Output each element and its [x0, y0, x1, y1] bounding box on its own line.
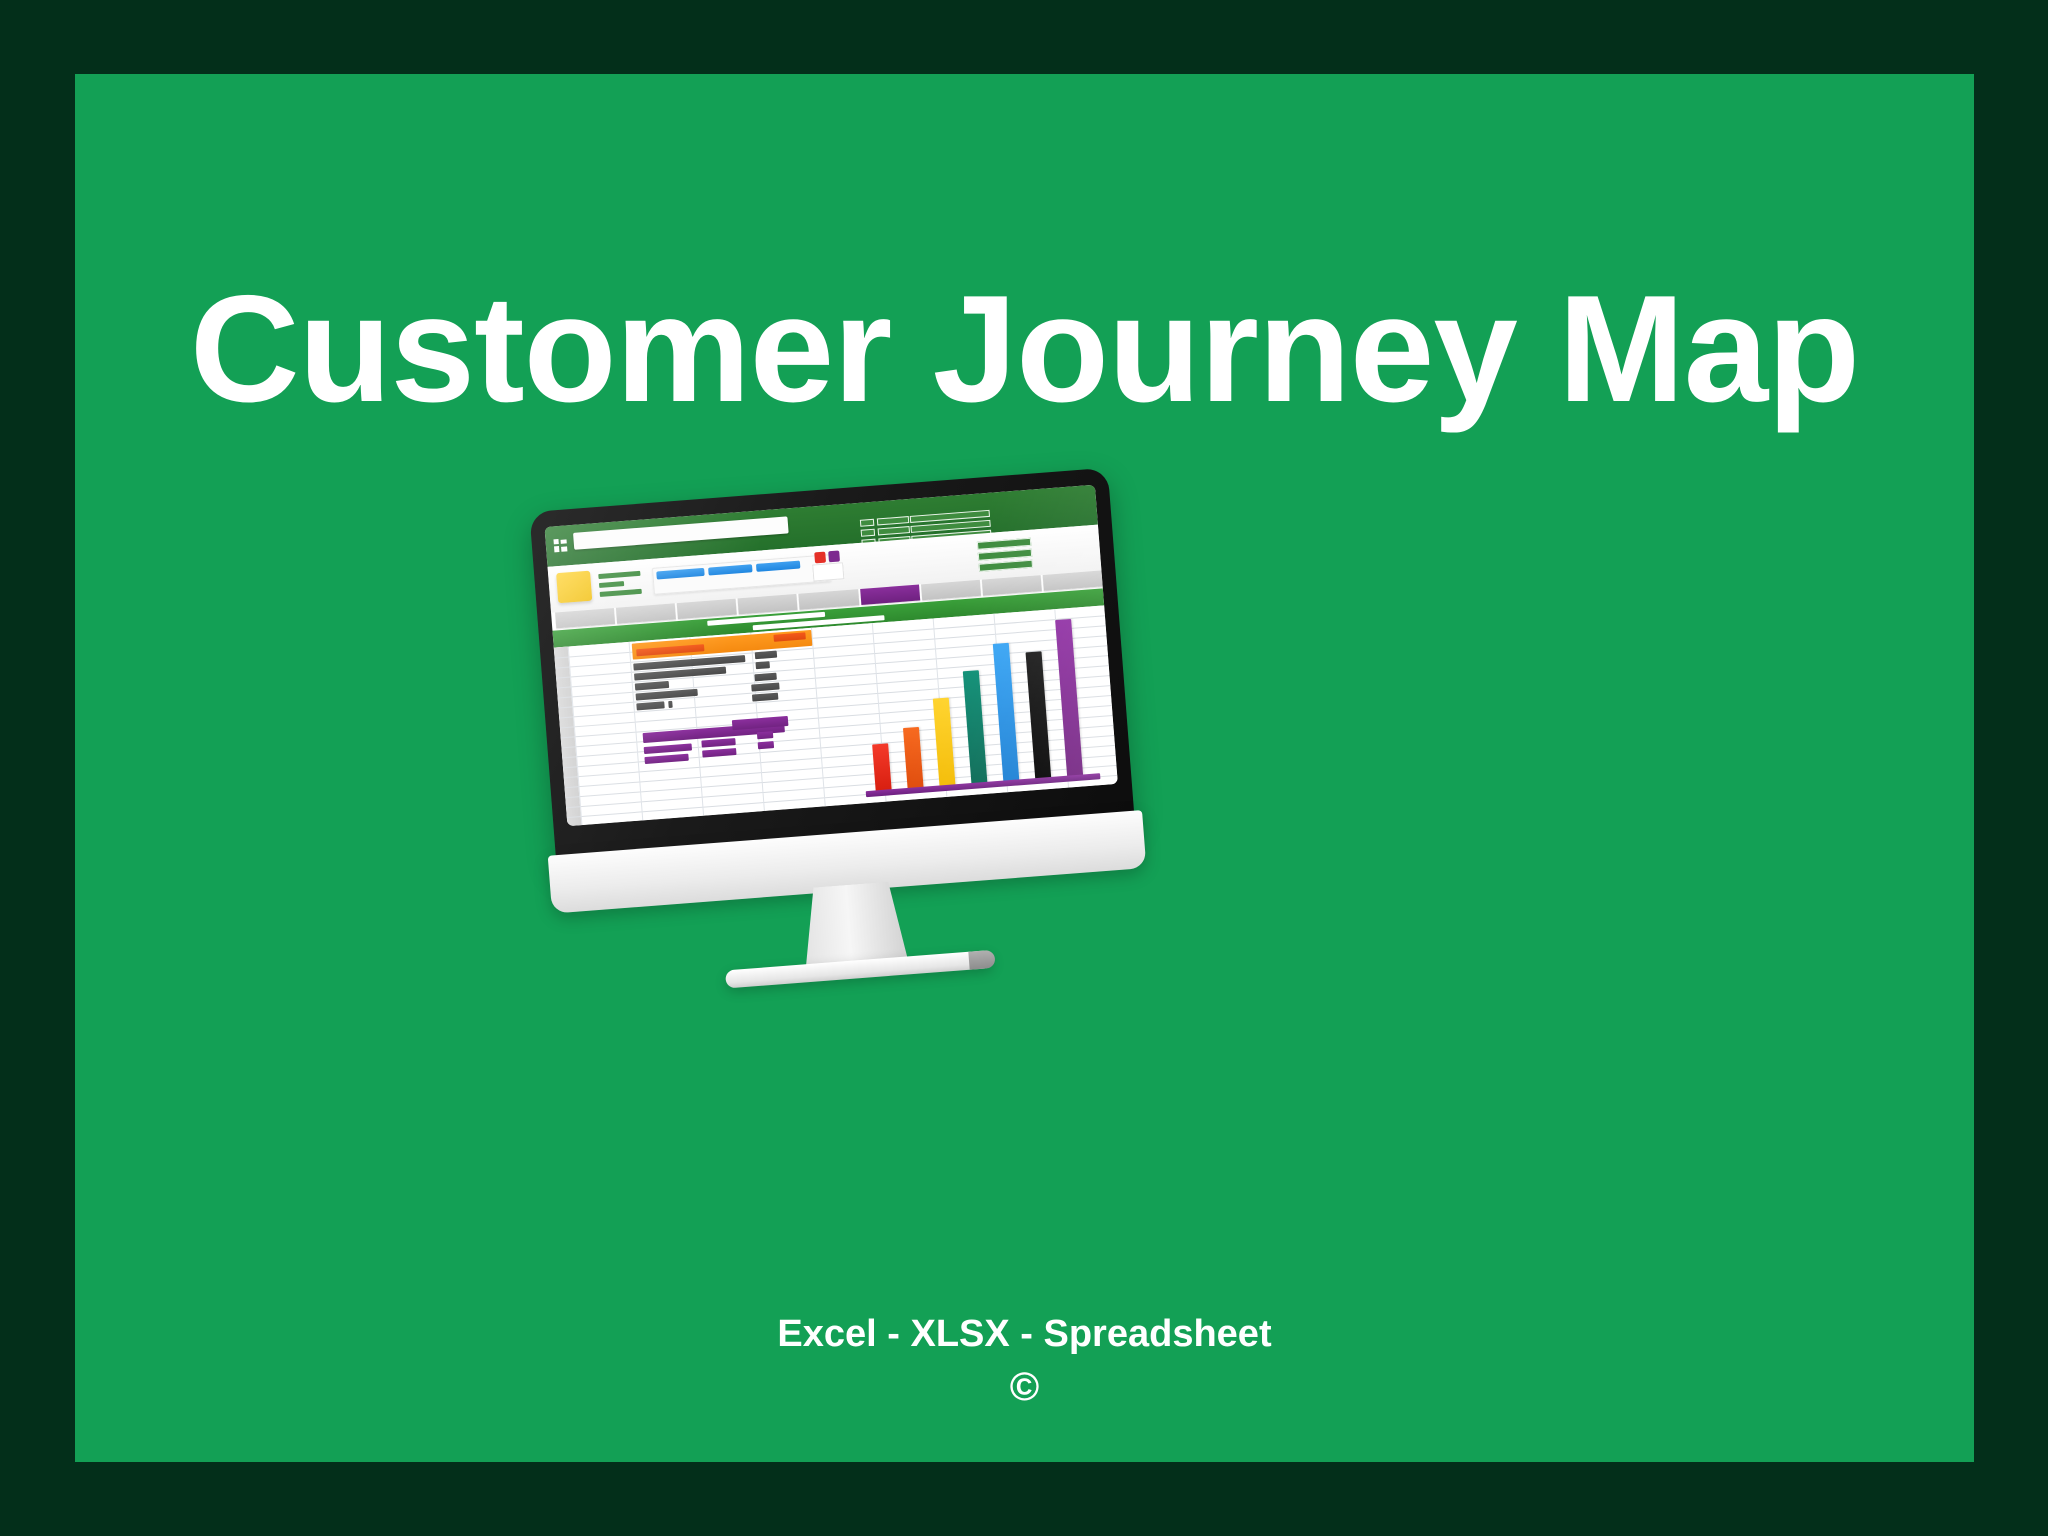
sheet-purple-data-bar	[757, 731, 773, 739]
ribbon-clipboard-group[interactable]	[598, 571, 642, 601]
sheet-purple-data-bar	[701, 738, 735, 748]
column-header-cell-selected[interactable]	[860, 584, 920, 604]
sheet-gray-data-bar	[668, 701, 673, 708]
sheet-purple-data-bar	[644, 743, 692, 754]
column-header-cell[interactable]	[1043, 570, 1103, 590]
ribbon-number-format-field[interactable]	[812, 562, 844, 581]
ribbon-editing-group[interactable]	[977, 538, 1033, 572]
copyright-icon: ©	[75, 1358, 1974, 1416]
monitor-illustration	[511, 466, 1168, 1022]
sheet-gray-data-bar	[755, 651, 777, 660]
ribbon-purple-swatch[interactable]	[828, 550, 840, 562]
column-header-cell[interactable]	[616, 603, 676, 623]
chart-bar	[872, 743, 892, 791]
sheet-purple-data-bar	[702, 748, 736, 758]
chart-bar	[993, 643, 1020, 782]
slide-root: Customer Journey Map	[0, 0, 2048, 1536]
column-header-cell[interactable]	[799, 589, 859, 609]
sheet-purple-data-bar	[644, 754, 688, 764]
ribbon-paste-button[interactable]	[556, 571, 592, 604]
column-header-cell[interactable]	[555, 608, 615, 628]
column-header-cell[interactable]	[677, 599, 737, 619]
column-header-cell[interactable]	[921, 580, 981, 600]
sheet-purple-data-bar	[758, 741, 774, 749]
chart-bar	[903, 727, 924, 789]
slide-panel: Customer Journey Map	[75, 74, 1974, 1462]
monitor-screen	[544, 485, 1117, 826]
footer-format-label: Excel - XLSX - Spreadsheet	[75, 1312, 1974, 1358]
ribbon-red-swatch[interactable]	[814, 552, 826, 564]
monitor-base-cap	[968, 950, 995, 970]
chart-bar	[1055, 619, 1083, 777]
chart-bar	[1026, 651, 1052, 779]
search-input[interactable]	[573, 516, 789, 549]
page-title: Customer Journey Map	[75, 270, 1974, 430]
chart-bar	[933, 698, 956, 787]
embedded-bar-chart	[854, 625, 1100, 801]
column-header-cell[interactable]	[982, 575, 1042, 595]
monitor-bezel	[529, 468, 1135, 867]
column-header-cell[interactable]	[738, 594, 798, 614]
chart-bar	[963, 670, 988, 784]
sheet-gray-data-bar	[755, 661, 769, 669]
excel-app-icon	[553, 538, 568, 553]
footer: Excel - XLSX - Spreadsheet ©	[75, 1312, 1974, 1416]
